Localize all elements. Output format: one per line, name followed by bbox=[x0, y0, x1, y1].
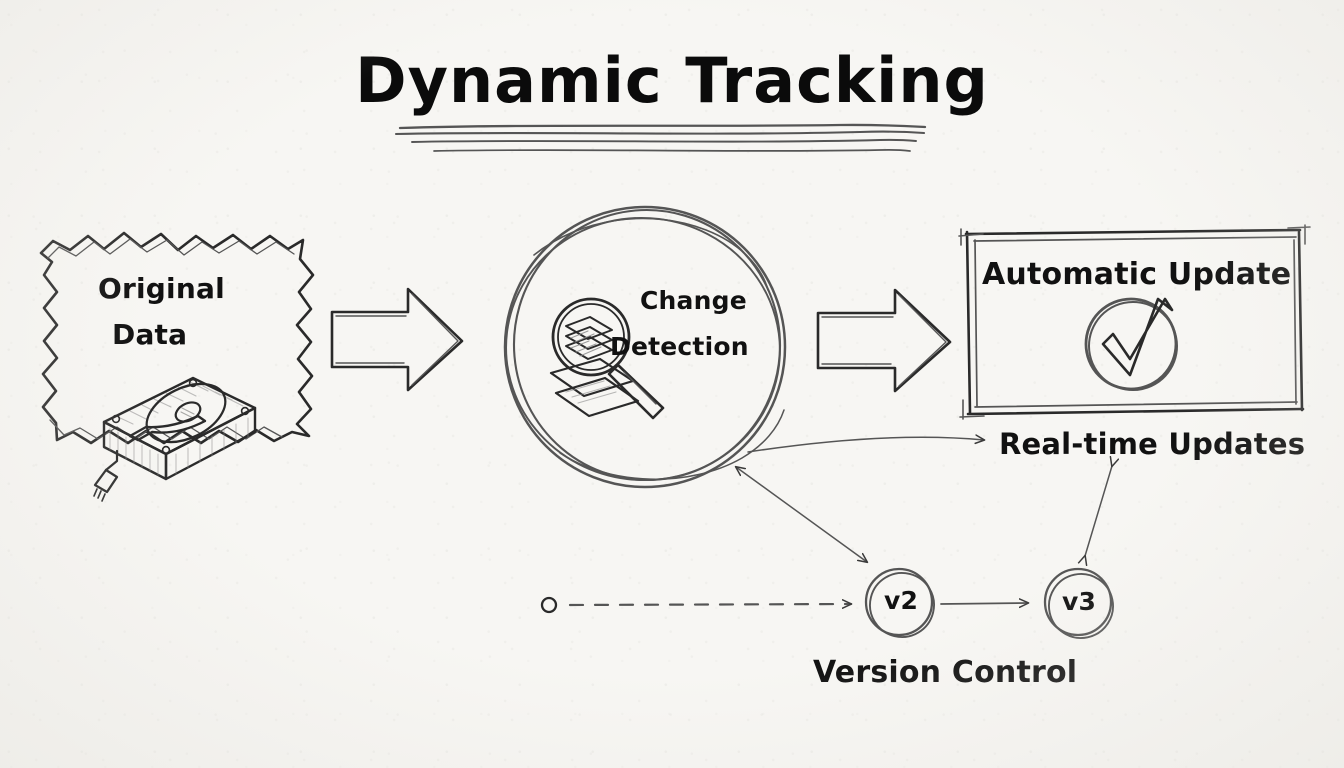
version-control-timeline[interactable] bbox=[542, 566, 1119, 644]
automatic-update-label: Automatic Update bbox=[982, 257, 1291, 292]
page-title: Dynamic Tracking bbox=[0, 44, 1344, 117]
arrow-detection-to-v2 bbox=[736, 467, 867, 562]
arrow-original-to-detection bbox=[332, 289, 462, 390]
change-detection-label-line1: Change bbox=[640, 286, 747, 315]
arrow-detection-to-update bbox=[818, 290, 950, 391]
change-detection-label-line2: Detection bbox=[610, 332, 749, 361]
version-start-node bbox=[542, 598, 556, 612]
automatic-update-box[interactable] bbox=[959, 225, 1310, 419]
diagram-canvas: .ink { fill:none; stroke:#2a2a2a; stroke… bbox=[0, 0, 1344, 768]
original-data-label-line1: Original bbox=[98, 272, 225, 305]
original-data-label-line2: Data bbox=[112, 318, 187, 351]
circled-check-icon bbox=[1082, 295, 1184, 397]
version-control-label: Version Control bbox=[813, 655, 1077, 690]
hard-drive-icon bbox=[94, 372, 255, 501]
version-node-v2-label: v2 bbox=[884, 586, 918, 615]
real-time-updates-label: Real-time Updates bbox=[999, 427, 1305, 461]
arrow-realtime-to-v3 bbox=[1085, 466, 1112, 556]
version-node-v3-label: v3 bbox=[1062, 587, 1096, 616]
title-underline bbox=[396, 125, 925, 151]
arrow-detection-to-realtime bbox=[748, 437, 984, 452]
